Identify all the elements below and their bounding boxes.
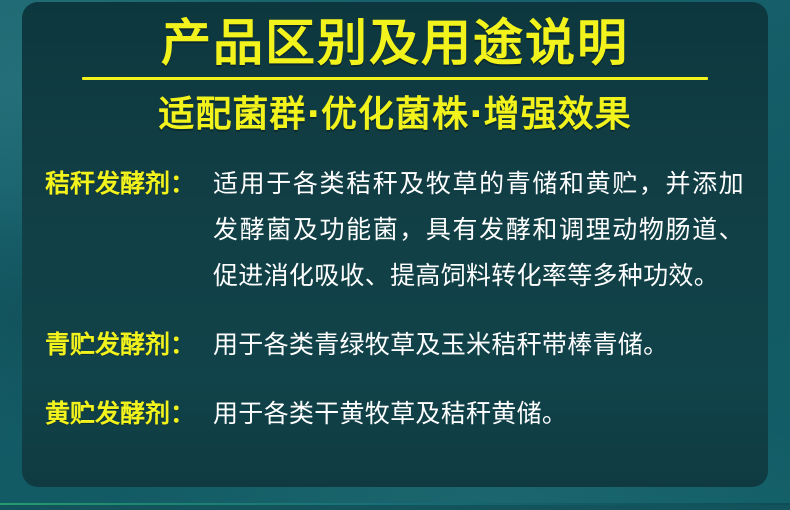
poster-header: 产品区别及用途说明 适配菌群·优化菌株·增强效果 xyxy=(22,2,768,135)
description-text-haylage: 用于各类干黄牧草及秸秆黄储。 xyxy=(213,391,744,437)
sub-title: 适配菌群·优化菌株·增强效果 xyxy=(22,94,768,135)
description-text-silage: 用于各类青绿牧草及玉米秸秆带棒青储。 xyxy=(213,322,744,368)
content-card: 产品区别及用途说明 适配菌群·优化菌株·增强效果 秸秆发酵剂： 适用于各类秸秆及… xyxy=(22,2,768,487)
title-underline-rule xyxy=(82,77,708,80)
bottom-accent-line xyxy=(0,503,790,505)
description-list: 秸秆发酵剂： 适用于各类秸秆及牧草的青储和黄贮，并添加发酵菌及功能菌，具有发酵和… xyxy=(22,161,768,437)
description-row-silage: 青贮发酵剂： 用于各类青绿牧草及玉米秸秆带棒青储。 xyxy=(45,322,744,368)
description-label-straw: 秸秆发酵剂： xyxy=(45,161,213,207)
description-row-straw: 秸秆发酵剂： 适用于各类秸秆及牧草的青储和黄贮，并添加发酵菌及功能菌，具有发酵和… xyxy=(45,161,744,299)
description-label-silage: 青贮发酵剂： xyxy=(45,322,213,368)
description-label-haylage: 黄贮发酵剂： xyxy=(45,391,213,437)
main-title: 产品区别及用途说明 xyxy=(22,16,768,70)
description-text-straw: 适用于各类秸秆及牧草的青储和黄贮，并添加发酵菌及功能菌，具有发酵和调理动物肠道、… xyxy=(213,161,744,299)
product-description-poster: 产品区别及用途说明 适配菌群·优化菌株·增强效果 秸秆发酵剂： 适用于各类秸秆及… xyxy=(0,0,790,510)
description-row-haylage: 黄贮发酵剂： 用于各类干黄牧草及秸秆黄储。 xyxy=(45,391,744,437)
bottom-fade-strip xyxy=(0,505,790,510)
